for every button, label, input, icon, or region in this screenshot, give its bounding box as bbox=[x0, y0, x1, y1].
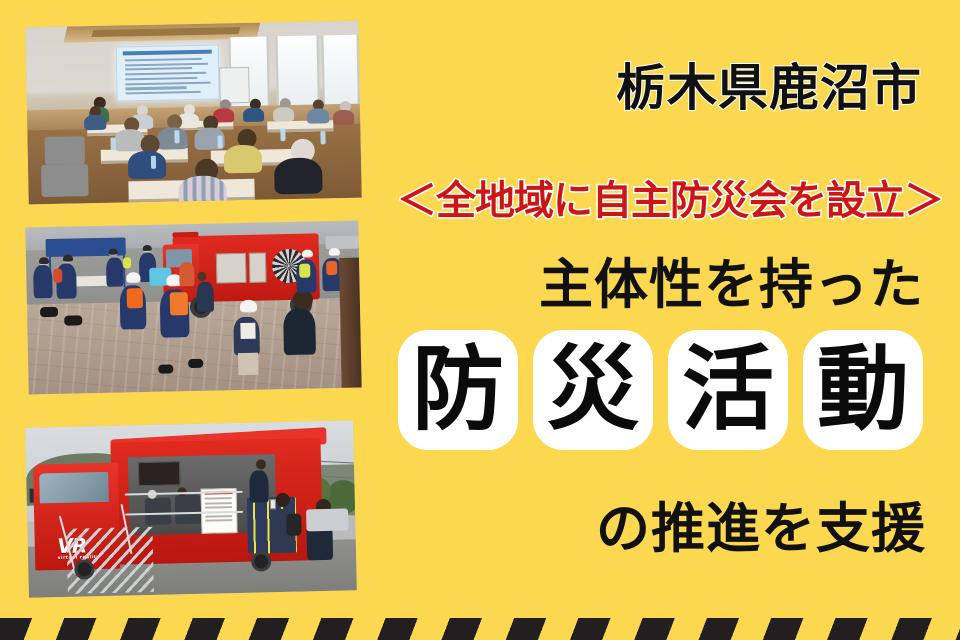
lead-heading: 主体性を持った bbox=[539, 240, 924, 319]
seminar-attendee bbox=[114, 129, 144, 152]
seminar-attendee bbox=[307, 108, 329, 123]
seminar-attendee bbox=[157, 127, 187, 150]
slide-line bbox=[125, 81, 210, 85]
vr-truck-wheel bbox=[74, 559, 94, 579]
seminar-attendee bbox=[273, 107, 294, 121]
building-edge bbox=[339, 257, 362, 388]
slide-line bbox=[125, 87, 186, 90]
kanji-box-bou: 防 bbox=[398, 330, 518, 450]
resident-apron bbox=[240, 323, 255, 339]
helmet-icon bbox=[142, 245, 151, 252]
vr-truck-windshield bbox=[39, 472, 109, 504]
photo-seminar-content bbox=[25, 21, 361, 205]
vr-seat bbox=[174, 495, 201, 524]
water-bottle bbox=[280, 128, 285, 141]
vr-display-monitor bbox=[137, 462, 180, 487]
water-bottle bbox=[151, 156, 156, 169]
smartphone bbox=[270, 499, 276, 509]
drill-participant bbox=[179, 262, 194, 286]
fire-truck-equipment-panel bbox=[249, 253, 266, 283]
seminar-whiteboard bbox=[219, 67, 250, 103]
highlight-kanji-row: 防 災 活 動 bbox=[398, 330, 923, 450]
seminar-attendee bbox=[224, 145, 263, 174]
firefighter-boot bbox=[64, 315, 82, 325]
firefighter-boot bbox=[158, 365, 173, 374]
water-bottle bbox=[111, 137, 116, 150]
vr-seat bbox=[145, 498, 172, 526]
poster-line bbox=[205, 502, 232, 504]
drill-resident bbox=[283, 308, 316, 355]
helmet-icon bbox=[126, 272, 140, 283]
hi-vis-vest bbox=[299, 263, 310, 277]
fire-truck-equipment-panel bbox=[216, 253, 247, 284]
hazard-stripe-footer bbox=[0, 618, 960, 640]
background-car bbox=[306, 509, 349, 532]
helmet-icon bbox=[329, 248, 340, 256]
photo-vr-truck-content: VR virtual reality bbox=[25, 420, 357, 597]
slide-line bbox=[125, 77, 197, 81]
text-column: 栃木県鹿沼市 ＜全地域に自主防災会を設立＞ 主体性を持った 防 災 活 動 の推… bbox=[380, 0, 960, 640]
seminar-attendee bbox=[333, 109, 354, 124]
rescue-vest bbox=[126, 289, 142, 309]
tail-heading: の推進を支援 bbox=[596, 484, 926, 563]
seminar-attendee bbox=[243, 108, 264, 122]
subtitle-heading: ＜全地域に自主防災会を設立＞ bbox=[386, 168, 954, 226]
drill-participant bbox=[196, 282, 214, 312]
kanji-box-sai: 災 bbox=[533, 330, 653, 450]
poster-line bbox=[205, 515, 232, 517]
seminar-chair bbox=[44, 136, 85, 165]
slide-line bbox=[125, 62, 208, 66]
helmet-icon bbox=[39, 257, 49, 265]
seminar-attendee bbox=[178, 176, 227, 205]
photo-drill bbox=[25, 221, 361, 395]
water-bottle bbox=[217, 135, 222, 148]
poster-line bbox=[205, 497, 232, 499]
slide-line bbox=[126, 91, 201, 95]
poster-line bbox=[205, 506, 232, 508]
hi-vis-vest bbox=[122, 257, 130, 268]
vr-staff bbox=[249, 470, 269, 502]
seminar-window-3 bbox=[322, 35, 360, 110]
slide-line bbox=[125, 72, 206, 76]
kanji-box-dou: 動 bbox=[803, 330, 923, 450]
vr-truck-mirror bbox=[30, 489, 34, 503]
seminar-attendee bbox=[128, 150, 167, 179]
poster-line bbox=[205, 519, 232, 521]
slide-title-bar bbox=[123, 50, 212, 56]
disaster-prevention-banner: VR virtual reality bbox=[0, 0, 960, 640]
helmet-icon bbox=[302, 250, 313, 258]
slide-line bbox=[125, 58, 202, 62]
helmet-icon bbox=[109, 249, 118, 256]
water-bottle bbox=[320, 131, 325, 144]
seminar-chair bbox=[41, 164, 88, 197]
drill-official bbox=[106, 257, 124, 286]
water-bottle bbox=[174, 130, 179, 143]
seminar-projection-screen bbox=[116, 45, 220, 102]
resident-trousers bbox=[238, 353, 258, 375]
helmet-icon bbox=[62, 255, 72, 263]
rescue-vest bbox=[170, 293, 188, 316]
firefighter bbox=[33, 265, 53, 298]
seminar-attendee bbox=[274, 158, 323, 195]
photo-vr-truck: VR virtual reality bbox=[25, 420, 357, 597]
slide-line bbox=[125, 67, 192, 70]
photo-drill-content bbox=[25, 221, 361, 395]
helmet-icon bbox=[240, 299, 257, 312]
city-heading: 栃木県鹿沼市 bbox=[616, 48, 922, 120]
background-car bbox=[325, 236, 359, 250]
firefighter-boot bbox=[188, 359, 203, 368]
seminar-attendee bbox=[84, 114, 106, 129]
kanji-box-katsu: 活 bbox=[668, 330, 788, 450]
rescue-vest bbox=[53, 269, 62, 283]
fire-truck-light-bar bbox=[172, 232, 199, 238]
firefighter-boot bbox=[40, 307, 58, 317]
photo-seminar bbox=[25, 21, 361, 205]
rescue-vest bbox=[326, 261, 337, 275]
backpack bbox=[286, 513, 301, 535]
